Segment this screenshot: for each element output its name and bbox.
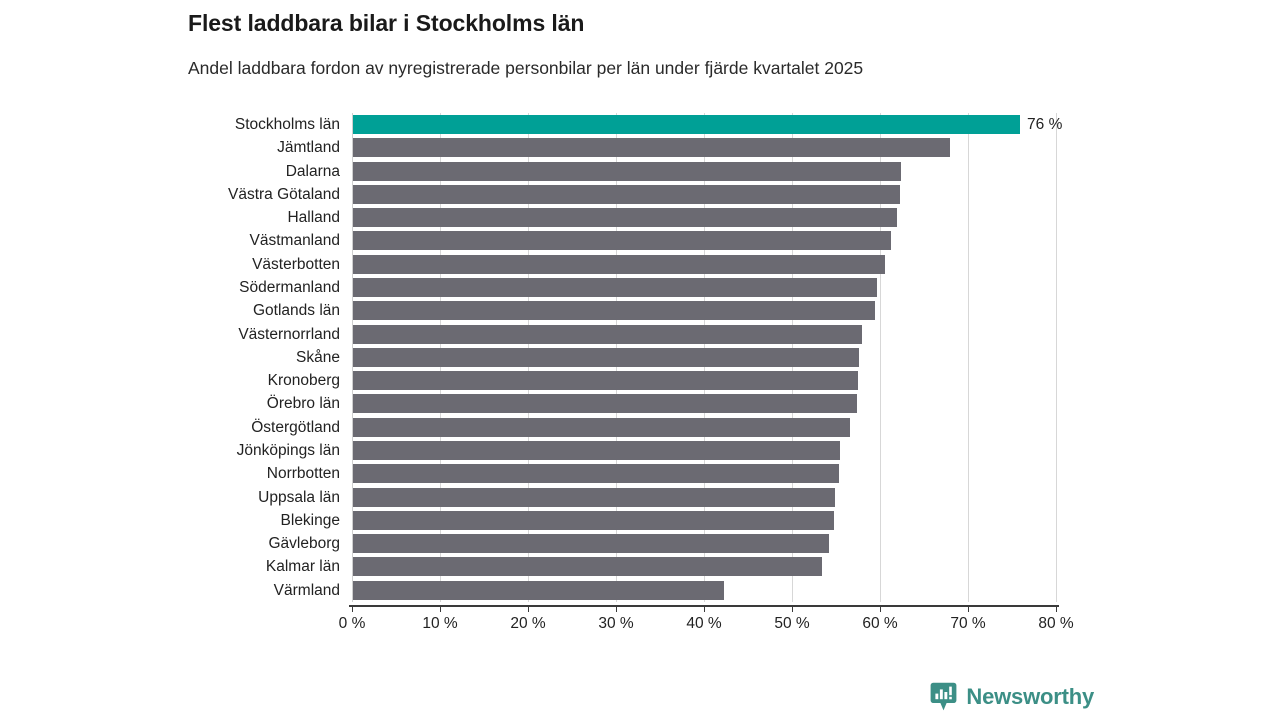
bar-row[interactable]: Skåne [352, 346, 1056, 369]
newsworthy-logo-text: Newsworthy [966, 684, 1094, 710]
gridline-80 [1056, 113, 1057, 602]
bar-row[interactable]: Gotlands län [352, 299, 1056, 322]
x-tick-80 [1056, 605, 1057, 612]
y-axis-label: Dalarna [40, 161, 340, 182]
bar-row[interactable]: Västerbotten [352, 253, 1056, 276]
page-title: Flest laddbara bilar i Stockholms län [188, 8, 1188, 38]
y-axis-label: Jämtland [40, 137, 340, 158]
y-axis-label: Östergötland [40, 417, 340, 438]
y-axis-label: Kalmar län [40, 556, 340, 577]
bar[interactable] [353, 278, 877, 297]
x-tick-50 [792, 605, 793, 612]
x-tick-30 [616, 605, 617, 612]
x-tick-label-30: 30 % [598, 615, 633, 633]
bar-row[interactable]: Stockholms län76 % [352, 113, 1056, 136]
bar[interactable] [353, 511, 834, 530]
bar-row[interactable]: Uppsala län [352, 486, 1056, 509]
bar[interactable] [353, 325, 862, 344]
y-axis-label: Uppsala län [40, 487, 340, 508]
bar[interactable] [353, 441, 840, 460]
bar-row[interactable]: Västra Götaland [352, 183, 1056, 206]
bar-row[interactable]: Örebro län [352, 392, 1056, 415]
bar-row[interactable]: Västernorrland [352, 323, 1056, 346]
y-axis-label: Västra Götaland [40, 184, 340, 205]
x-tick-label-80: 80 % [1038, 615, 1073, 633]
bar-row[interactable]: Östergötland [352, 416, 1056, 439]
x-tick-60 [880, 605, 881, 612]
bar-row[interactable]: Dalarna [352, 160, 1056, 183]
x-axis: 0 %10 %20 %30 %40 %50 %60 %70 %80 % [352, 605, 1056, 645]
bar[interactable] [353, 138, 950, 157]
y-axis-label: Jönköpings län [40, 440, 340, 461]
bar[interactable] [353, 534, 829, 553]
bar-chart: Stockholms län76 %JämtlandDalarnaVästra … [0, 108, 1280, 648]
x-tick-label-60: 60 % [862, 615, 897, 633]
bar-row[interactable]: Värmland [352, 579, 1056, 602]
x-tick-label-70: 70 % [950, 615, 985, 633]
y-axis-label: Halland [40, 207, 340, 228]
bar-row[interactable]: Norrbotten [352, 462, 1056, 485]
y-axis-label: Blekinge [40, 510, 340, 531]
bar[interactable] [353, 464, 839, 483]
y-axis-label: Södermanland [40, 277, 340, 298]
chart-header: Flest laddbara bilar i Stockholms län An… [188, 8, 1188, 80]
y-axis-label: Västerbotten [40, 254, 340, 275]
bar-row[interactable]: Blekinge [352, 509, 1056, 532]
bar[interactable] [353, 162, 901, 181]
bar-row[interactable]: Jönköpings län [352, 439, 1056, 462]
x-tick-20 [528, 605, 529, 612]
y-axis-label: Gävleborg [40, 533, 340, 554]
plot-area: Stockholms län76 %JämtlandDalarnaVästra … [352, 113, 1056, 602]
bar[interactable] [353, 371, 858, 390]
bar-row[interactable]: Jämtland [352, 136, 1056, 159]
y-axis-label: Örebro län [40, 393, 340, 414]
x-tick-label-0: 0 % [339, 615, 366, 633]
bar-row[interactable]: Kalmar län [352, 555, 1056, 578]
bar[interactable] [353, 557, 822, 576]
bar-rows: Stockholms län76 %JämtlandDalarnaVästra … [352, 113, 1056, 602]
x-tick-70 [968, 605, 969, 612]
y-axis-label: Västmanland [40, 230, 340, 251]
y-axis-label: Västernorrland [40, 324, 340, 345]
newsworthy-bar-chart-bubble-icon [930, 682, 957, 712]
y-axis-label: Kronoberg [40, 370, 340, 391]
bar[interactable] [353, 488, 835, 507]
x-tick-label-40: 40 % [686, 615, 721, 633]
bar[interactable] [353, 301, 875, 320]
y-axis-label: Norrbotten [40, 463, 340, 484]
bar[interactable] [353, 115, 1020, 134]
bar[interactable] [353, 208, 897, 227]
bar-row[interactable]: Kronoberg [352, 369, 1056, 392]
bar[interactable] [353, 418, 850, 437]
bar-value-label: 76 % [1020, 114, 1062, 135]
y-axis-label: Värmland [40, 580, 340, 601]
x-tick-label-50: 50 % [774, 615, 809, 633]
footer-branding: Newsworthy [930, 682, 1094, 712]
bar[interactable] [353, 348, 859, 367]
y-axis-label: Skåne [40, 347, 340, 368]
x-tick-label-10: 10 % [422, 615, 457, 633]
chart-subtitle: Andel laddbara fordon av nyregistrerade … [188, 38, 1188, 80]
x-tick-40 [704, 605, 705, 612]
y-axis-label: Gotlands län [40, 300, 340, 321]
bar[interactable] [353, 394, 857, 413]
bar[interactable] [353, 231, 891, 250]
x-tick-10 [440, 605, 441, 612]
bar-row[interactable]: Södermanland [352, 276, 1056, 299]
bar[interactable] [353, 581, 724, 600]
bar-row[interactable]: Gävleborg [352, 532, 1056, 555]
bar-row[interactable]: Halland [352, 206, 1056, 229]
x-tick-0 [352, 605, 353, 612]
y-axis-label: Stockholms län [40, 114, 340, 135]
bar[interactable] [353, 185, 900, 204]
bar[interactable] [353, 255, 885, 274]
bar-row[interactable]: Västmanland [352, 229, 1056, 252]
x-tick-label-20: 20 % [510, 615, 545, 633]
